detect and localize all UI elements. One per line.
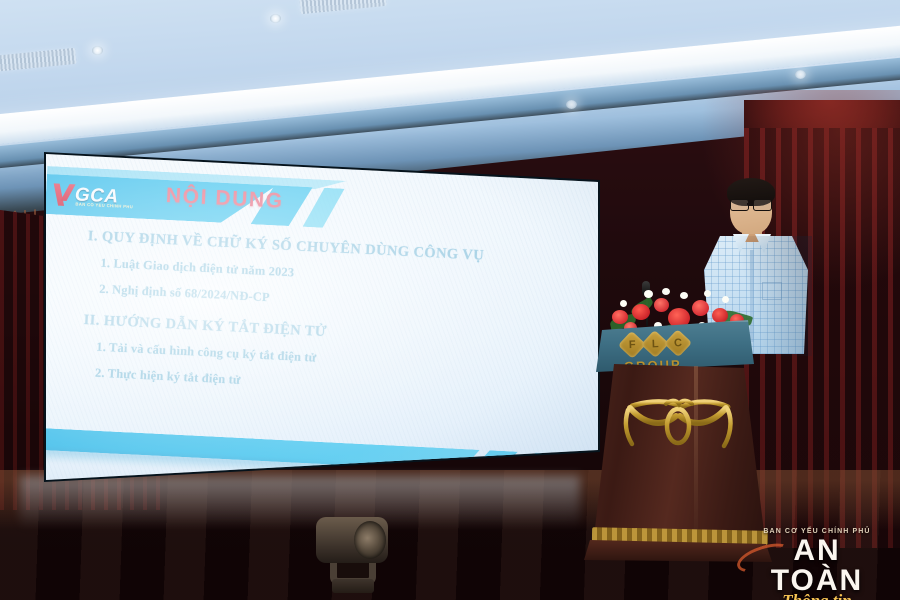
light-lens-icon (354, 521, 386, 559)
projection-screen: GCA BAN CO YEU CHINH PHU NỘI DUNG I. QUY… (0, 152, 600, 482)
podium-corner-edge (694, 366, 698, 552)
watermark-line-1: BAN CƠ YẾU CHÍNH PHỦ (742, 528, 892, 535)
downlight-icon (92, 46, 103, 55)
glasses-icon (729, 199, 773, 209)
light-base (332, 579, 374, 593)
downlight-icon (270, 14, 281, 23)
podium-gold-garland-icon (620, 398, 738, 454)
conference-hall-photo: GCA BAN CO YEU CHINH PHU NỘI DUNG I. QUY… (0, 0, 900, 600)
screen-reflection (20, 476, 580, 528)
flc-letter: F (628, 339, 635, 351)
watermark-line-3: Thông tin (742, 592, 892, 600)
screen-vignette (0, 152, 600, 482)
downlight-icon (795, 70, 806, 79)
flc-letter: C (674, 337, 682, 349)
podium-body (588, 364, 766, 554)
flc-logo-diamonds: F L C (622, 333, 689, 355)
watermark: BAN CƠ YẾU CHÍNH PHỦ AN TOÀN Thông tin (742, 528, 892, 592)
downlight-icon (566, 100, 577, 109)
speaker-shirt-pocket (762, 282, 782, 300)
stage-moving-light (310, 505, 394, 591)
flc-letter: L (651, 338, 658, 350)
